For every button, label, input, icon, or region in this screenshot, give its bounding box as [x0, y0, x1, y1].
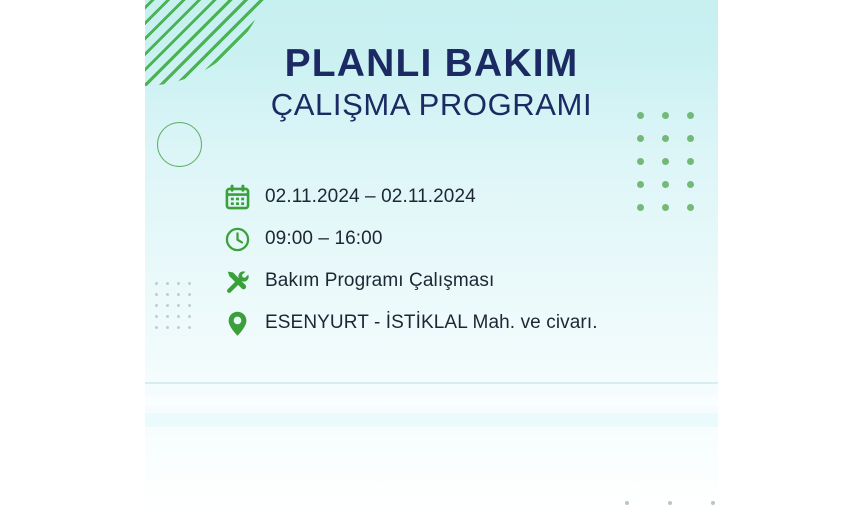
info-row-location-text: ESENYURT - İSTİKLAL Mah. ve civarı. [265, 312, 598, 334]
clock-icon [221, 223, 253, 255]
background-band [145, 382, 718, 384]
page-title: PLANLI BAKIM ÇALIŞMA PROGRAMI [145, 44, 718, 123]
title-main: PLANLI BAKIM [145, 44, 718, 84]
info-row-worktype: Bakım Programı Çalışması [221, 260, 701, 302]
info-row-time-text: 09:00 – 16:00 [265, 228, 383, 250]
tools-icon [221, 265, 253, 297]
title-sub: ÇALIŞMA PROGRAMI [145, 86, 718, 123]
dot-grid-left-decoration [155, 282, 199, 337]
info-row-worktype-text: Bakım Programı Çalışması [265, 270, 494, 292]
location-pin-icon [221, 307, 253, 339]
background-band [145, 396, 718, 406]
calendar-icon [221, 181, 253, 213]
poster-image: PLANLI BAKIM ÇALIŞMA PROGRAMI [0, 0, 860, 505]
info-row-date-text: 02.11.2024 – 02.11.2024 [265, 186, 476, 208]
info-list: 02.11.2024 – 02.11.2024 09:00 – 16:00 [221, 176, 701, 344]
background-band [145, 413, 718, 427]
bottom-watermark-mark [625, 494, 715, 505]
info-row-date: 02.11.2024 – 02.11.2024 [221, 176, 701, 218]
info-row-location: ESENYURT - İSTİKLAL Mah. ve civarı. [221, 302, 701, 344]
poster-card: PLANLI BAKIM ÇALIŞMA PROGRAMI [145, 0, 718, 505]
circle-outline-decoration [157, 122, 202, 167]
info-row-time: 09:00 – 16:00 [221, 218, 701, 260]
